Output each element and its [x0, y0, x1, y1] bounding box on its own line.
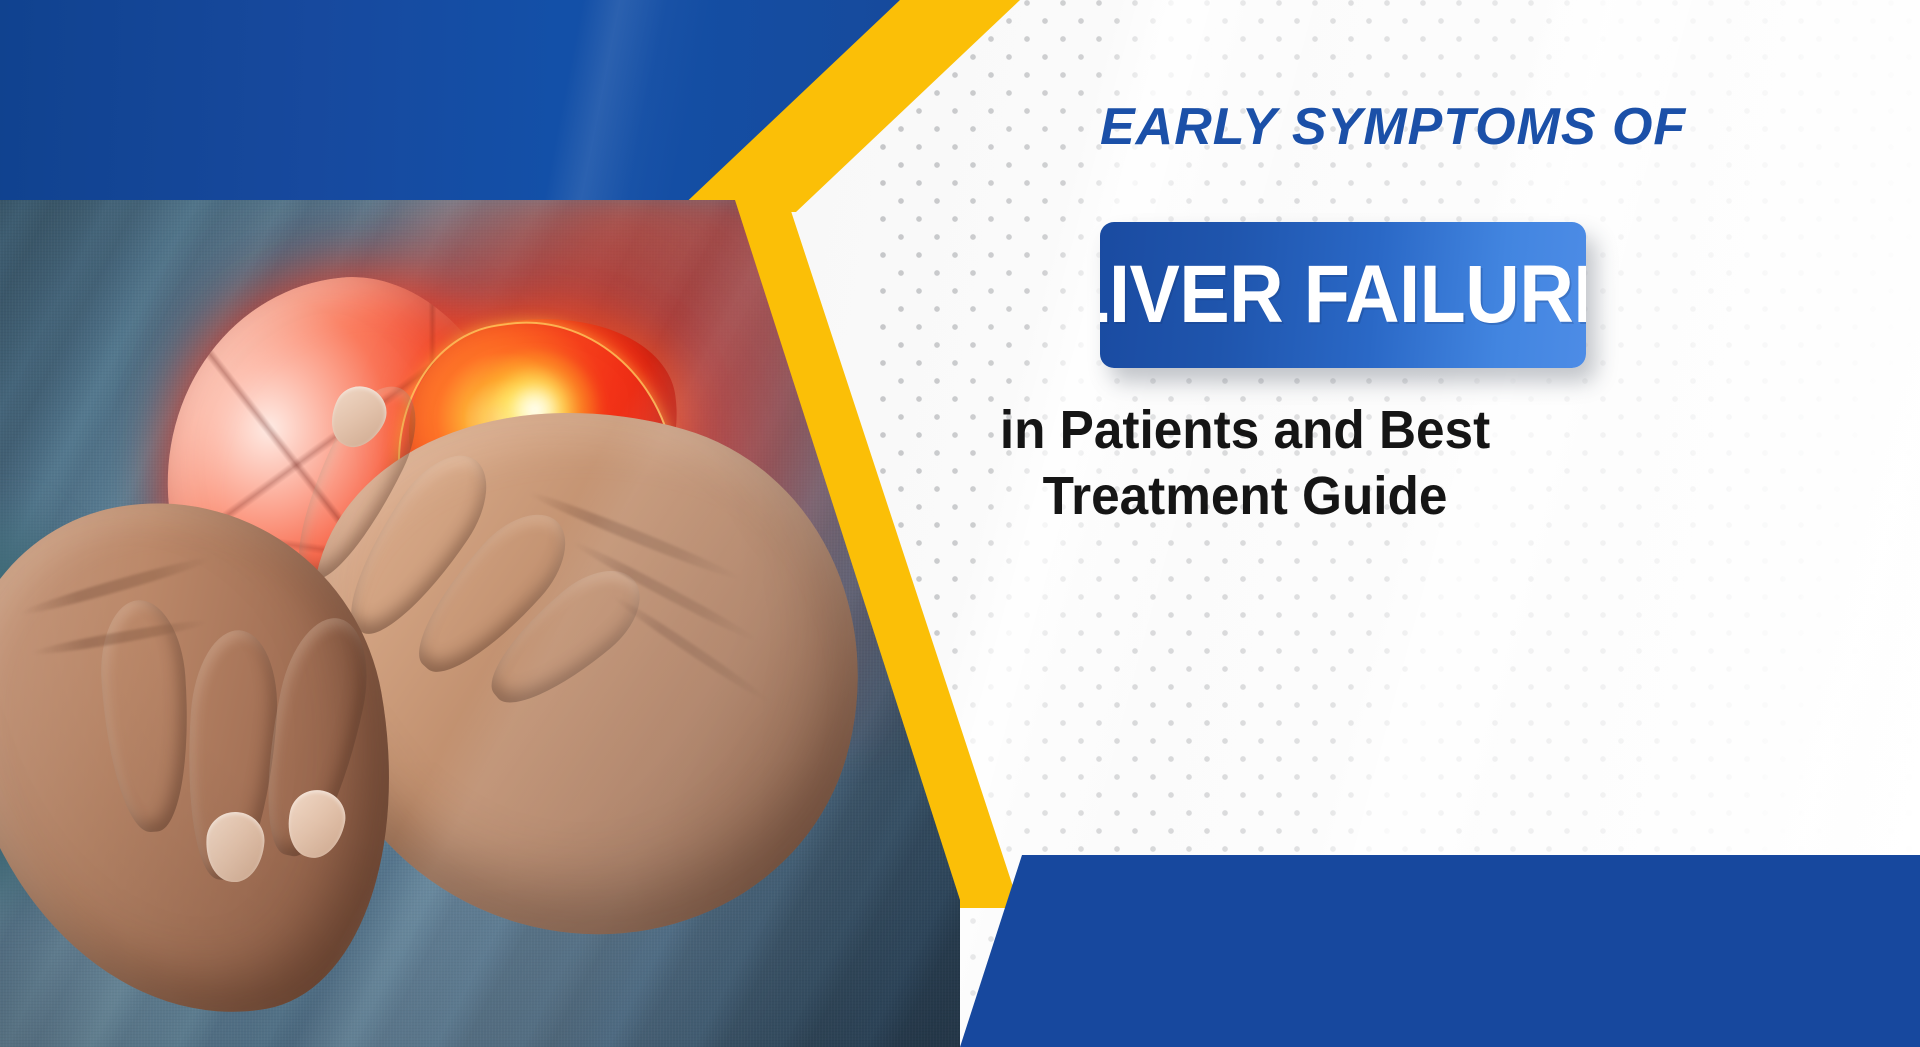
title-badge: LIVER FAILURE: [1100, 222, 1586, 368]
bottom-blue-footer: [960, 855, 1920, 1047]
subtitle-line-2: Treatment Guide: [946, 464, 1545, 530]
page-subtitle: in Patients and Best Treatment Guide: [946, 398, 1545, 530]
page-title: LIVER FAILURE: [1100, 254, 1586, 336]
liver-failure-banner: EARLY SYMPTOMS OF LIVER FAILURE in Patie…: [0, 0, 1920, 1047]
headline-kicker: EARLY SYMPTOMS OF: [1100, 100, 1570, 155]
subtitle-line-1: in Patients and Best: [946, 398, 1545, 464]
